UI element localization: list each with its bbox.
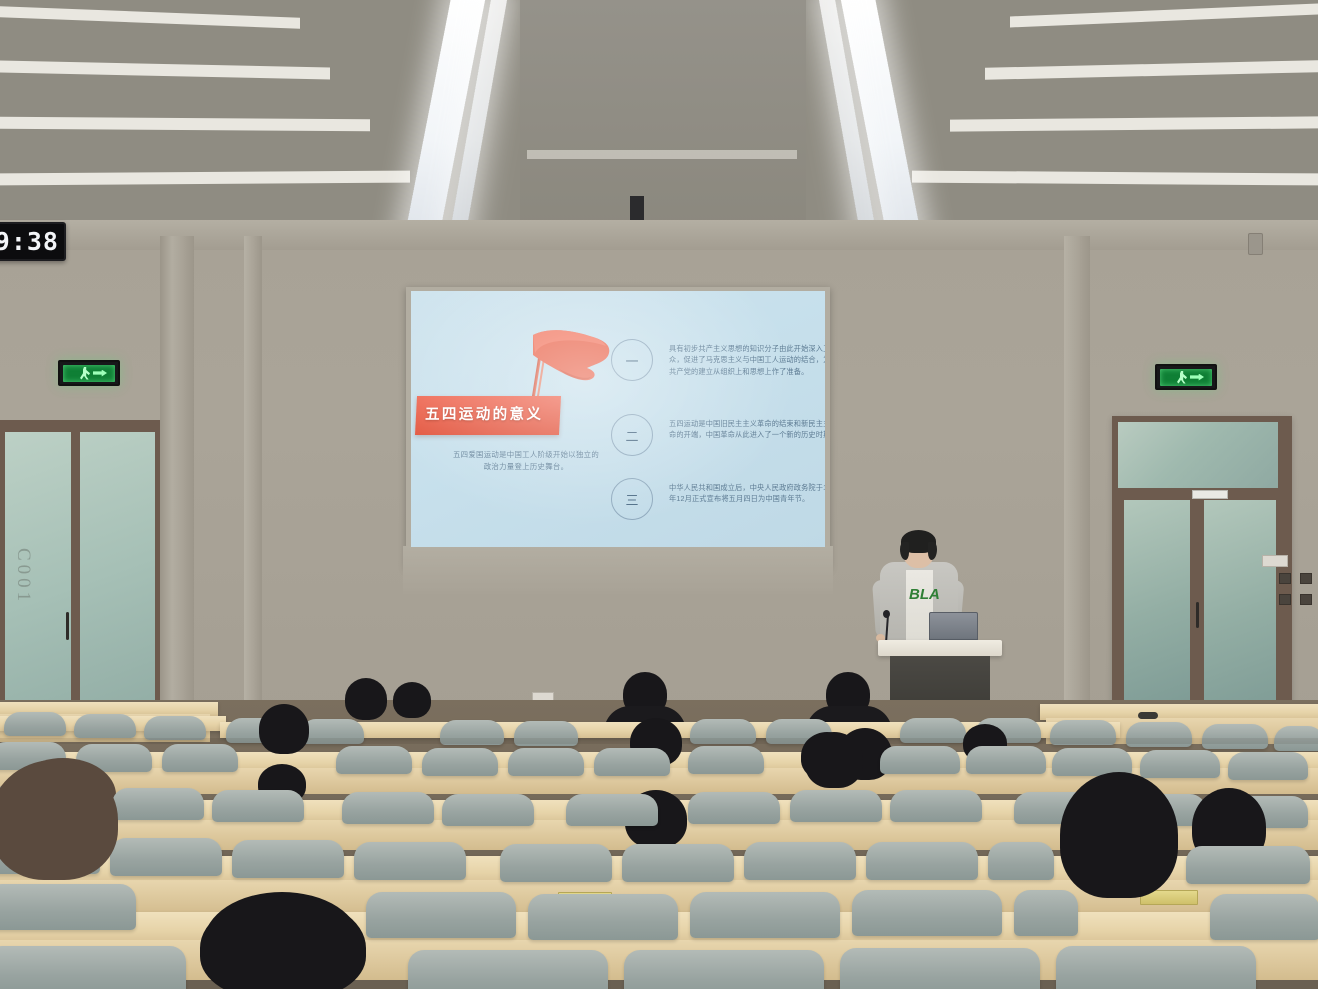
student-head <box>259 704 309 754</box>
seat <box>566 794 658 826</box>
door-handle-right[interactable] <box>1196 602 1199 628</box>
ceiling-beam-center <box>527 150 797 159</box>
ceiling-beam <box>912 171 1318 186</box>
ceiling-beam <box>0 117 370 132</box>
clock-time: 9:38 <box>0 227 59 256</box>
slide-point-text-1: 具有初步共产主义思想的知识分子由此开始深入工人群众，促进了马克思主义与中国工人运… <box>669 343 825 377</box>
seat <box>688 746 764 774</box>
ceiling-beam <box>950 116 1318 131</box>
wall-outlet[interactable] <box>1300 573 1312 584</box>
seat <box>442 794 534 826</box>
student-head <box>805 732 863 788</box>
seat <box>232 840 344 878</box>
door-handle-left[interactable] <box>66 612 69 640</box>
projection-screen-lower-band <box>403 546 833 594</box>
seat <box>422 748 498 776</box>
seat <box>144 716 206 740</box>
mouse-object <box>1138 712 1158 719</box>
door-rail <box>5 425 155 432</box>
exit-sign-right <box>1155 364 1217 390</box>
running-man-icon <box>80 367 90 380</box>
seat <box>354 842 466 880</box>
wall-outlet[interactable] <box>1279 573 1291 584</box>
seat <box>500 844 612 882</box>
seat <box>690 892 840 938</box>
seat <box>840 948 1040 989</box>
seat <box>112 788 204 820</box>
ceiling-beam <box>0 6 300 29</box>
seat <box>366 892 516 938</box>
presentation-slide: 五四运动的意义 五四爱国运动是中国工人阶级开始以独立的政治力量登上历史舞台。 一… <box>411 291 825 547</box>
wall-pilaster <box>244 236 262 706</box>
student-head <box>200 896 366 989</box>
seat <box>1202 724 1268 749</box>
wall-corner-left <box>160 236 172 706</box>
wall-speaker <box>1248 233 1263 255</box>
seat <box>624 950 824 989</box>
seat <box>342 792 434 824</box>
ceiling-beam <box>985 60 1318 80</box>
seat <box>508 748 584 776</box>
seat <box>880 746 960 774</box>
seat <box>852 890 1002 936</box>
exit-sign-left <box>58 360 120 386</box>
seat <box>408 950 608 989</box>
wall-switch-plate[interactable] <box>1262 555 1288 567</box>
microphone-icon <box>883 610 890 618</box>
exit-sign-face <box>1160 369 1212 386</box>
slide-point-marker-1: 一 <box>611 339 653 381</box>
door-transom-window <box>1118 422 1278 488</box>
slide-point-marker-2: 二 <box>611 414 653 456</box>
door-mullion <box>71 425 80 705</box>
door-leaf-left[interactable] <box>1124 500 1190 700</box>
seat <box>110 838 222 876</box>
seat <box>528 894 678 940</box>
seat <box>0 946 186 989</box>
ceiling-beam <box>0 61 330 80</box>
ceiling-beam <box>0 171 410 186</box>
student-head <box>345 678 387 720</box>
slide-point-marker-3: 三 <box>611 478 653 520</box>
seat <box>1014 890 1078 936</box>
presenter-hair-side <box>900 542 909 560</box>
wall-outlet[interactable] <box>1300 594 1312 605</box>
student-head <box>0 760 118 880</box>
laptop[interactable] <box>929 612 978 640</box>
seat <box>336 746 412 774</box>
wall-soffit <box>0 220 1318 250</box>
seat <box>212 790 304 822</box>
arrow-right-icon <box>93 370 107 377</box>
seat <box>4 712 66 736</box>
slide-title: 五四运动的意义 <box>425 403 565 424</box>
seat <box>988 842 1054 880</box>
seat <box>1186 846 1310 884</box>
seat <box>162 744 238 772</box>
slide-subtitle: 五四爱国运动是中国工人阶级开始以独立的政治力量登上历史舞台。 <box>451 449 601 473</box>
ceiling-beam <box>1010 4 1318 28</box>
seat <box>688 792 780 824</box>
seat <box>594 748 670 776</box>
seat <box>890 790 982 822</box>
digital-wall-clock: 9:38 <box>0 222 66 261</box>
seat <box>966 746 1046 774</box>
student-head <box>393 682 431 718</box>
seat <box>1228 752 1308 780</box>
slide-point-text-3: 中华人民共和国成立后，中央人民政府政务院于1949年12月正式宣布将五月四日为中… <box>669 482 825 505</box>
exit-sign-face <box>63 365 115 382</box>
arrow-right-icon <box>1190 374 1204 381</box>
lecture-hall-photo: 9:38 C001 <box>0 0 1318 989</box>
seat <box>0 884 136 930</box>
ceiling <box>0 0 1318 232</box>
slide-point-text-2: 五四运动是中国旧民主主义革命的结束和新民主主义革命的开端，中国革命从此进入了一个… <box>669 418 825 441</box>
presenter-shirt-logo: BLA <box>909 588 931 614</box>
wall-outlet[interactable] <box>1279 594 1291 605</box>
podium-top <box>878 640 1002 656</box>
door-room-sign <box>1192 490 1228 499</box>
student-head <box>1060 772 1178 898</box>
seat <box>790 790 882 822</box>
seat <box>74 714 136 738</box>
seat <box>1210 894 1318 940</box>
wall-pilaster <box>1064 236 1090 706</box>
running-man-icon <box>1177 371 1187 384</box>
seat <box>866 842 978 880</box>
seat <box>744 842 856 880</box>
seat <box>622 844 734 882</box>
room-number-label: C001 <box>12 548 34 605</box>
ceiling-panel-center <box>520 0 806 232</box>
door-leaf-right[interactable] <box>1204 500 1276 708</box>
red-flag-icon <box>529 329 613 387</box>
seat <box>1140 750 1220 778</box>
seat <box>1056 946 1256 989</box>
